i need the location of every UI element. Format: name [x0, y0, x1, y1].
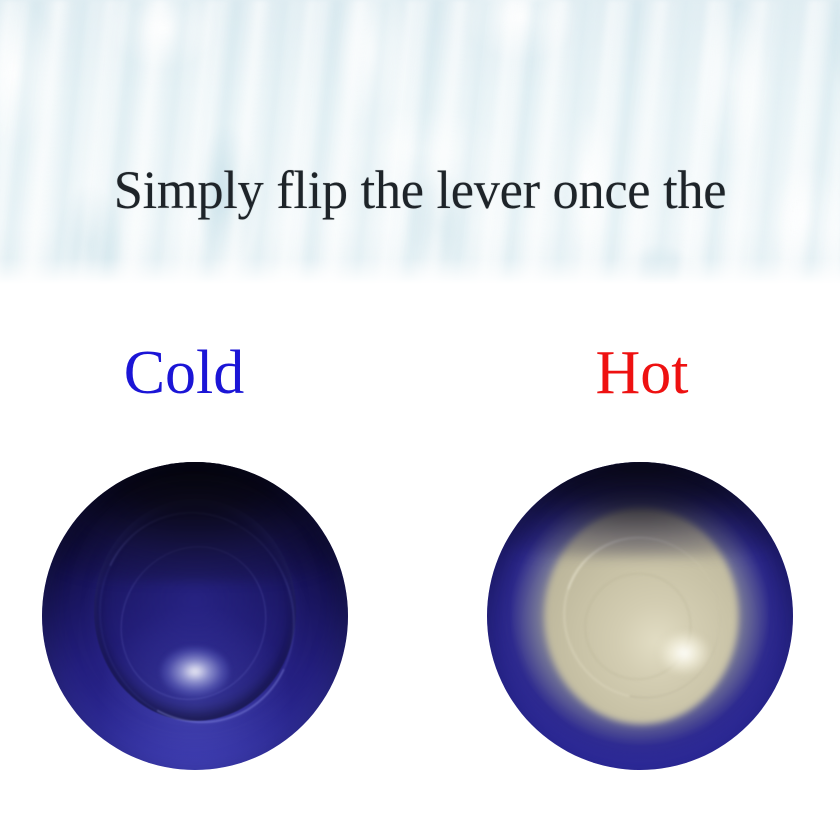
panel-hot: Hot: [420, 284, 840, 840]
headline-line-1: Simply flip the lever once the: [13, 164, 828, 217]
label-hot: Hot: [432, 342, 840, 404]
panel-cold: Cold: [0, 284, 420, 840]
product-instruction-graphic: Simply flip the lever once the Showermi$…: [0, 0, 840, 840]
showermiser-indicator-cold: [42, 462, 348, 770]
label-cold: Cold: [0, 342, 394, 404]
showermiser-indicator-hot: [487, 462, 793, 770]
indicator-disc-hot-body: [487, 462, 793, 770]
headline: Simply flip the lever once the Showermi$…: [13, 58, 828, 284]
water-banner: Simply flip the lever once the Showermi$…: [0, 0, 840, 284]
indicator-comparison: Cold Hot: [0, 284, 840, 840]
indicator-edge-shading-hot: [487, 462, 793, 770]
indicator-edge-shading-cold: [42, 462, 348, 770]
indicator-disc-cold-body: [42, 462, 348, 770]
